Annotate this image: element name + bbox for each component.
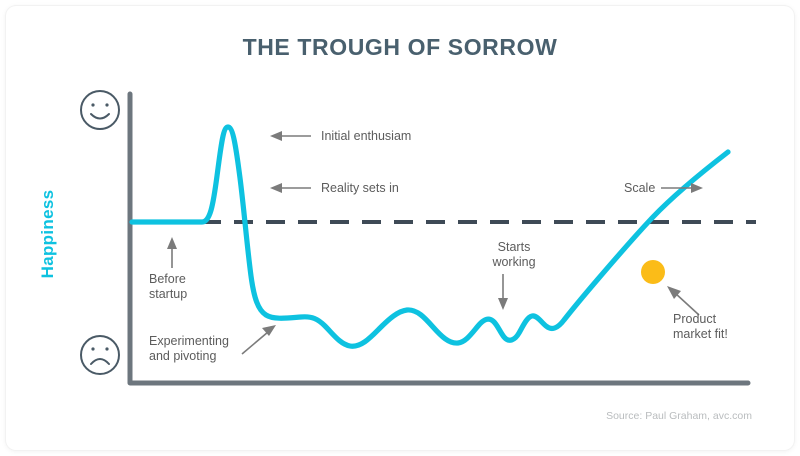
- initial-enthusiam-arrow-icon: [270, 131, 311, 141]
- starts-working-arrow-icon: [498, 274, 508, 310]
- before-startup-arrow-icon: [167, 237, 177, 268]
- product-market-fit-marker: [641, 260, 665, 284]
- annotation-before-startup: Before startup: [149, 272, 187, 302]
- product-market-fit-arrow-icon: [667, 286, 699, 315]
- annotation-starts-working: Starts working: [484, 240, 544, 270]
- chart-plot: [6, 6, 794, 450]
- chart-card: THE TROUGH OF SORROW Happiness: [6, 6, 794, 450]
- happiness-curve: [132, 127, 728, 346]
- annotation-experimenting-pivoting: Experimenting and pivoting: [149, 334, 229, 364]
- reality-sets-in-arrow-icon: [270, 183, 311, 193]
- annotation-initial-enthusiam: Initial enthusiam: [321, 129, 411, 144]
- sad-face-icon: [81, 336, 119, 374]
- annotation-product-market-fit: Product market fit!: [673, 312, 728, 342]
- annotation-reality-sets-in: Reality sets in: [321, 181, 399, 196]
- annotation-scale: Scale: [624, 181, 655, 196]
- happy-face-icon: [81, 91, 119, 129]
- source-attribution: Source: Paul Graham, avc.com: [606, 410, 752, 422]
- experimenting-pivoting-arrow-icon: [242, 325, 276, 354]
